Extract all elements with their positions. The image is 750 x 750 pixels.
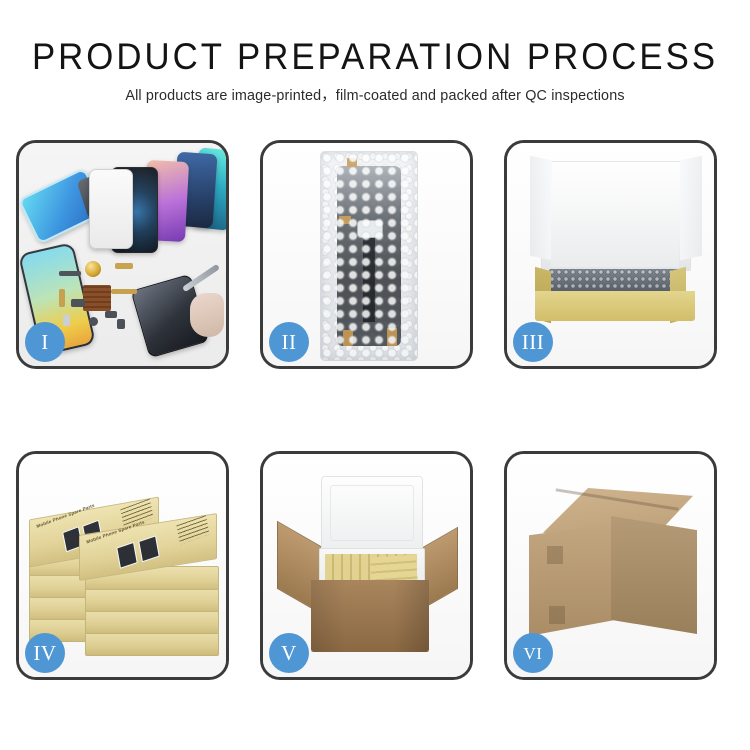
flex-cable-icon — [59, 289, 65, 307]
carton-tape-icon — [547, 546, 563, 564]
styrofoam-lid-icon — [321, 476, 423, 552]
step-badge-3: III — [513, 322, 553, 362]
chip-icon — [117, 319, 125, 329]
circuit-board-icon — [83, 285, 111, 311]
process-step-panel-2: II — [260, 140, 473, 369]
step-badge-5: V — [269, 633, 309, 673]
gold-component-icon — [85, 261, 101, 277]
carton-right-face-icon — [611, 516, 697, 634]
stacked-box — [85, 588, 219, 612]
chip-icon — [71, 299, 85, 307]
box-front-panel-icon — [535, 291, 695, 321]
process-step-panel-1: I — [16, 140, 229, 369]
process-step-grid: I II — [16, 140, 734, 680]
box-window-icon — [116, 542, 138, 569]
stacked-box — [85, 632, 219, 656]
step-badge-2: II — [269, 322, 309, 362]
screen-protector-icon — [89, 169, 133, 249]
step-badge-6: VI — [513, 633, 553, 673]
carton-tape-icon — [549, 606, 565, 624]
bubble-wrap-bag-icon — [320, 151, 418, 361]
page-title: PRODUCT PREPARATION PROCESS — [23, 36, 728, 78]
box-window-icon — [138, 535, 160, 562]
product-preparation-page: PRODUCT PREPARATION PROCESS All products… — [0, 0, 750, 750]
box-stack: Mobile Phone Spare Parts Mobile Phone Sp… — [27, 474, 223, 660]
step-badge-4: IV — [25, 633, 65, 673]
bubble-texture — [321, 152, 417, 360]
stacked-box — [85, 610, 219, 634]
button-part-icon — [89, 317, 98, 326]
process-step-panel-5: V — [260, 451, 473, 680]
foam-sheet-icon — [551, 183, 679, 267]
carton-left-face-icon — [529, 524, 613, 636]
carton-body-icon — [311, 580, 429, 652]
process-step-panel-3: III — [504, 140, 717, 369]
page-header: PRODUCT PREPARATION PROCESS All products… — [0, 0, 750, 105]
page-subtitle: All products are image-printed，film-coat… — [4, 87, 747, 105]
step-badge-1: I — [25, 322, 65, 362]
sim-tray-icon — [63, 315, 70, 326]
process-step-panel-4: Mobile Phone Spare Parts Mobile Phone Sp… — [16, 451, 229, 680]
chip-icon — [59, 271, 81, 276]
process-step-panel-6: VI — [504, 451, 717, 680]
chip-icon — [105, 311, 117, 318]
flex-cable-icon — [111, 289, 137, 294]
hand-icon — [190, 293, 224, 337]
box-text-lines — [176, 515, 209, 544]
flex-cable-icon — [115, 263, 133, 269]
